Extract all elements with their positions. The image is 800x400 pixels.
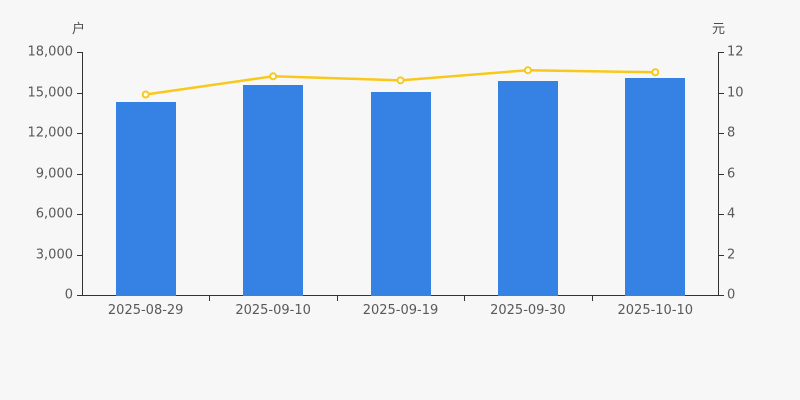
plot-area: 2025-08-29: 9.9元2025-09-10: 10.8元2025-09… <box>82 40 719 296</box>
line-marker[interactable]: 2025-10-10: 11元 <box>652 69 658 75</box>
bar[interactable] <box>371 92 431 296</box>
right-axis-tick-label: 8 <box>727 126 735 141</box>
x-axis-category-label: 2025-10-10 <box>618 303 694 318</box>
right-axis-tick-label: 10 <box>727 85 744 100</box>
left-axis-tick-label: 9,000 <box>36 166 73 181</box>
line-marker[interactable]: 2025-09-19: 10.6元 <box>398 77 404 83</box>
left-axis-tick-label: 3,000 <box>36 247 73 262</box>
right-axis-tick <box>719 255 724 256</box>
bar[interactable] <box>116 102 176 296</box>
line-marker[interactable]: 2025-09-10: 10.8元 <box>270 73 276 79</box>
left-axis-tick-label: 0 <box>65 288 73 303</box>
right-axis-tick-label: 12 <box>727 45 744 60</box>
x-axis-category-label: 2025-09-19 <box>363 303 439 318</box>
right-axis-tick-label: 2 <box>727 247 735 262</box>
right-axis-tick <box>719 93 724 94</box>
line-marker[interactable]: 2025-08-29: 9.9元 <box>143 92 149 98</box>
x-axis-category-label: 2025-09-10 <box>235 303 311 318</box>
x-axis-tick <box>209 296 210 301</box>
x-axis-category-label: 2025-08-29 <box>108 303 184 318</box>
right-axis-tick <box>719 295 724 296</box>
left-axis-tick-label: 18,000 <box>28 45 74 60</box>
left-axis-tick-label: 6,000 <box>36 207 73 222</box>
left-axis-tick-label: 12,000 <box>28 126 74 141</box>
right-axis-tick-label: 6 <box>727 166 735 181</box>
left-axis-tick-label: 15,000 <box>28 85 74 100</box>
bar[interactable] <box>498 81 558 296</box>
x-axis-category-label: 2025-09-30 <box>490 303 566 318</box>
right-axis-tick <box>719 133 724 134</box>
x-axis-tick <box>337 296 338 301</box>
right-axis-tick-label: 4 <box>727 207 735 222</box>
line-marker[interactable]: 2025-09-30: 11.1元 <box>525 67 531 73</box>
right-axis-tick-label: 0 <box>727 288 735 303</box>
right-axis-unit-label: 元 <box>712 18 725 37</box>
right-axis-tick <box>719 174 724 175</box>
left-axis-unit-label: 户 <box>72 18 85 37</box>
x-axis-tick <box>592 296 593 301</box>
bar[interactable] <box>625 78 685 296</box>
bar[interactable] <box>243 85 303 296</box>
x-axis-tick <box>464 296 465 301</box>
right-axis-tick <box>719 214 724 215</box>
shareholder-count-chart: 户 元 03,0006,0009,00012,00015,00018,000 0… <box>0 0 800 400</box>
right-axis-tick <box>719 52 724 53</box>
line-path <box>146 70 656 94</box>
